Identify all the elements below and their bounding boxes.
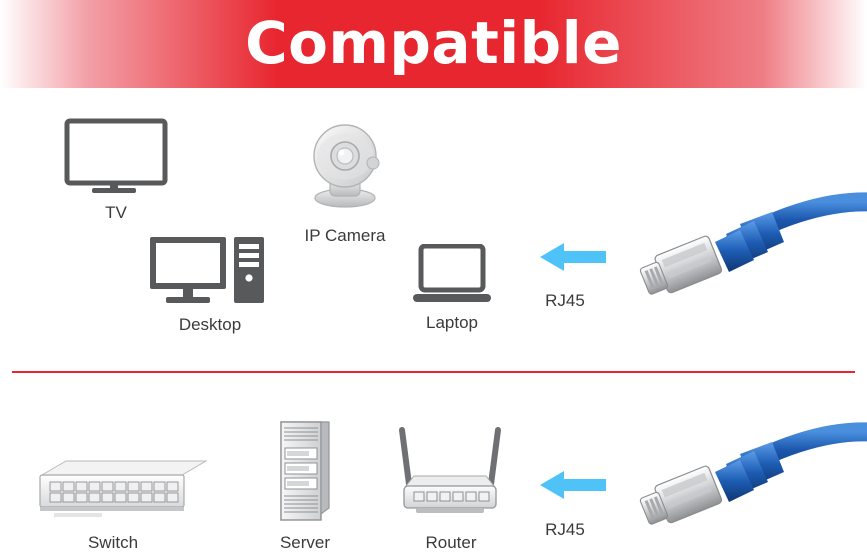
arrow-left-icon <box>540 468 606 507</box>
compatibility-diagram: Compatible TV <box>0 0 867 558</box>
switch-label: Switch <box>48 533 178 553</box>
server-rack-icon <box>265 418 345 524</box>
arrow-left-icon <box>540 240 606 279</box>
rj45-connector-icon <box>620 418 867 548</box>
section-divider <box>12 371 855 373</box>
desktop-computer-icon <box>150 236 266 308</box>
tv-label: TV <box>64 203 168 223</box>
header-banner: Compatible <box>0 0 867 88</box>
desktop-label: Desktop <box>140 315 280 335</box>
network-switch-icon <box>36 455 208 527</box>
tv-icon <box>64 118 168 194</box>
ip-camera-label: IP Camera <box>275 226 415 246</box>
ip-camera-icon <box>303 118 387 210</box>
page-title: Compatible <box>0 0 867 88</box>
rj45-label-top: RJ45 <box>512 291 618 311</box>
laptop-icon <box>413 244 491 306</box>
rj45-label-bottom: RJ45 <box>512 520 618 540</box>
router-label: Router <box>388 533 514 553</box>
laptop-label: Laptop <box>388 313 516 333</box>
wifi-router-icon <box>396 424 504 524</box>
rj45-connector-icon <box>622 190 867 320</box>
server-label: Server <box>245 533 365 553</box>
